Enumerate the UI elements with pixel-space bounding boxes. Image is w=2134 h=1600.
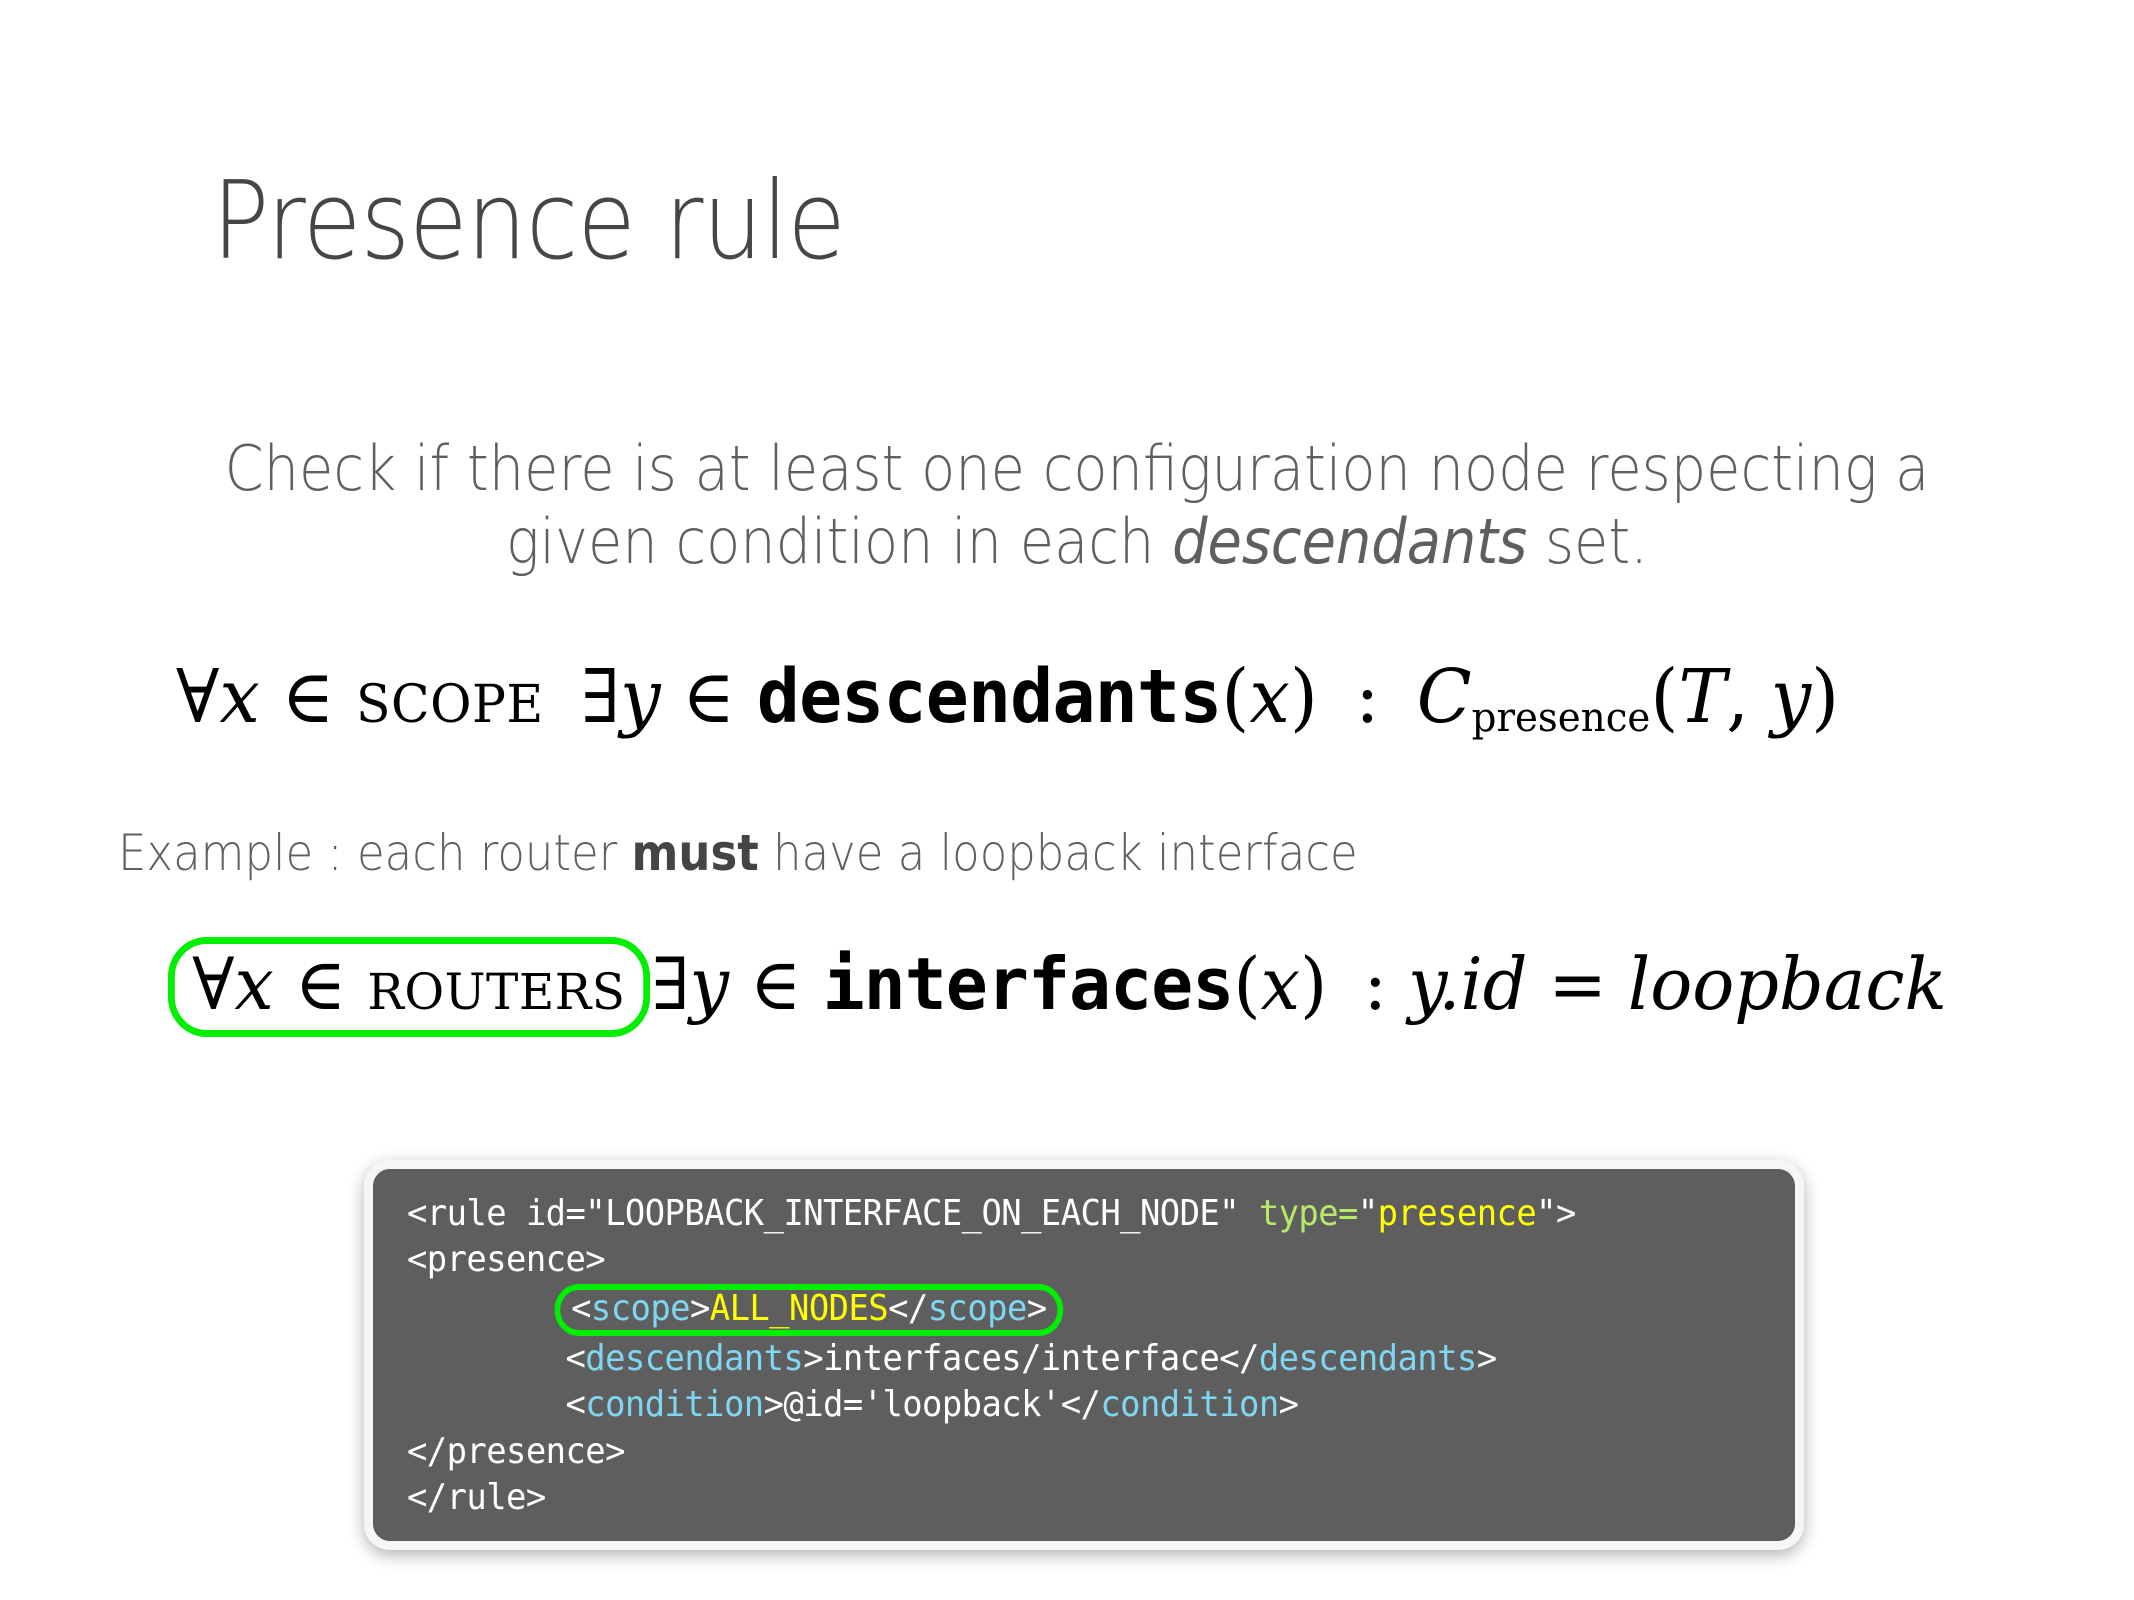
formula-example-arg: x bbox=[1261, 942, 1300, 1026]
code-line-5-tag-name: condition bbox=[585, 1384, 763, 1425]
exists-symbol: ∃ bbox=[581, 654, 620, 740]
code-line-4-text: interfaces/interface bbox=[823, 1338, 1219, 1379]
code-line-3-open-bracket: < bbox=[571, 1288, 591, 1329]
code-line-5-close-gt: > bbox=[1279, 1384, 1299, 1425]
formula-example-scope-set: ROUTERS bbox=[367, 942, 625, 1026]
code-line-1-quote-open: " bbox=[1358, 1193, 1378, 1234]
formula-main-cond-arg-t: T bbox=[1678, 654, 1726, 740]
code-line-1-value: presence bbox=[1378, 1193, 1536, 1234]
code-line-4-gt: > bbox=[803, 1338, 823, 1379]
code-line-3-text: ALL_NODES bbox=[710, 1288, 888, 1329]
body-line-2-after: set. bbox=[1527, 505, 1648, 578]
code-line-5-gt: > bbox=[764, 1384, 784, 1425]
code-line-5-open-bracket: < bbox=[565, 1384, 585, 1425]
formula-main-open-paren: ( bbox=[1221, 654, 1249, 740]
scope-tag-highlight-box: <scope>ALL_NODES</scope> bbox=[554, 1284, 1063, 1336]
code-line-1-close: > bbox=[1556, 1193, 1576, 1234]
formula-main-var-y: y bbox=[620, 654, 661, 740]
code-line-5-indent bbox=[407, 1384, 565, 1425]
formula-main-colon: : bbox=[1355, 654, 1379, 740]
formula-example: ∀x∈ROUTERS∃y∈interfaces(x):y.id=loopback bbox=[168, 937, 1947, 1037]
code-line-3-close-tag-name: scope bbox=[928, 1288, 1027, 1329]
code-line-5-close-tag-name: condition bbox=[1100, 1384, 1278, 1425]
formula-main-arg: x bbox=[1249, 654, 1289, 740]
formula-example-close-paren: ) bbox=[1300, 942, 1327, 1026]
formula-main: ∀x∈SCOPE∃y∈descendants(x):Cpresence(T,y) bbox=[176, 660, 1839, 739]
example-caption-strong: must bbox=[632, 824, 759, 882]
formula-example-lhs: y.id bbox=[1408, 942, 1527, 1026]
example-caption-before: Example : each router bbox=[118, 824, 632, 882]
code-line-2: <presence> bbox=[407, 1239, 605, 1280]
formula-main-cond-comma: , bbox=[1726, 654, 1749, 740]
code-line-3-close-gt: > bbox=[1027, 1288, 1047, 1329]
code-line-1-open: <rule id="LOOPBACK_INTERFACE_ON_EACH_NOD… bbox=[407, 1193, 1259, 1234]
code-line-3-gt: > bbox=[690, 1288, 710, 1329]
formula-main-condition-name: C bbox=[1417, 654, 1472, 740]
code-line-5-close-bracket: </ bbox=[1061, 1384, 1101, 1425]
formula-main-var-x: x bbox=[219, 654, 259, 740]
code-line-4-close-bracket: </ bbox=[1219, 1338, 1259, 1379]
code-line-1-attr: type= bbox=[1259, 1193, 1358, 1234]
formula-example-equals: = bbox=[1548, 942, 1607, 1026]
page-title: Presence rule bbox=[212, 168, 845, 276]
formula-main-scope-set: SCOPE bbox=[356, 654, 544, 740]
example-caption: Example : each router must have a loopba… bbox=[118, 824, 1358, 882]
formula-main-cond-arg-y: y bbox=[1771, 654, 1812, 740]
code-line-4-close-gt: > bbox=[1477, 1338, 1497, 1379]
forall-symbol-example: ∀ bbox=[192, 942, 234, 1026]
exists-symbol-example: ∃ bbox=[652, 942, 690, 1026]
formula-main-close-paren: ) bbox=[1290, 654, 1318, 740]
body-line-1: Check if there is at least one configura… bbox=[225, 432, 1930, 505]
code-line-3-indent bbox=[407, 1288, 565, 1329]
formula-example-function: interfaces bbox=[823, 942, 1234, 1026]
forall-symbol: ∀ bbox=[176, 654, 219, 740]
formula-main-cond-close-paren: ) bbox=[1811, 654, 1839, 740]
code-line-3-tag-name: scope bbox=[591, 1288, 690, 1329]
example-caption-after: have a loopback interface bbox=[759, 824, 1358, 882]
code-line-1-quote-close: " bbox=[1536, 1193, 1556, 1234]
formula-example-var-x: x bbox=[234, 942, 273, 1026]
element-of-symbol-2: ∈ bbox=[682, 654, 735, 740]
element-of-symbol-1: ∈ bbox=[281, 654, 334, 740]
code-line-3-close-bracket: </ bbox=[888, 1288, 928, 1329]
slide-canvas: Presence rule Check if there is at least… bbox=[0, 0, 2134, 1600]
body-line-2-italic: descendants bbox=[1172, 505, 1527, 578]
code-line-4-indent bbox=[407, 1338, 565, 1379]
code-line-4-open-bracket: < bbox=[565, 1338, 585, 1379]
code-snippet: <rule id="LOOPBACK_INTERFACE_ON_EACH_NOD… bbox=[407, 1191, 1712, 1522]
formula-example-var-y: y bbox=[690, 942, 729, 1026]
code-line-5-text: @id='loopback' bbox=[783, 1384, 1060, 1425]
code-line-4-tag-name: descendants bbox=[585, 1338, 803, 1379]
code-line-4-close-tag-name: descendants bbox=[1259, 1338, 1477, 1379]
formula-example-colon: : bbox=[1364, 942, 1388, 1026]
code-line-7: </rule> bbox=[407, 1477, 546, 1518]
element-of-symbol-example-2: ∈ bbox=[750, 942, 802, 1026]
formula-main-condition-subscript: presence bbox=[1472, 695, 1651, 741]
body-paragraph: Check if there is at least one configura… bbox=[209, 432, 1946, 578]
formula-example-open-paren: ( bbox=[1233, 942, 1260, 1026]
element-of-symbol-example-1: ∈ bbox=[295, 942, 347, 1026]
formula-main-cond-open-paren: ( bbox=[1650, 654, 1678, 740]
scope-highlight-box: ∀x∈ROUTERS bbox=[168, 937, 650, 1037]
code-line-6: </presence> bbox=[407, 1431, 625, 1472]
formula-main-function: descendants bbox=[757, 654, 1222, 740]
formula-example-rhs: loopback bbox=[1628, 942, 1947, 1026]
code-snippet-panel: <rule id="LOOPBACK_INTERFACE_ON_EACH_NOD… bbox=[364, 1160, 1804, 1550]
body-line-2-before: given condition in each bbox=[506, 505, 1172, 578]
